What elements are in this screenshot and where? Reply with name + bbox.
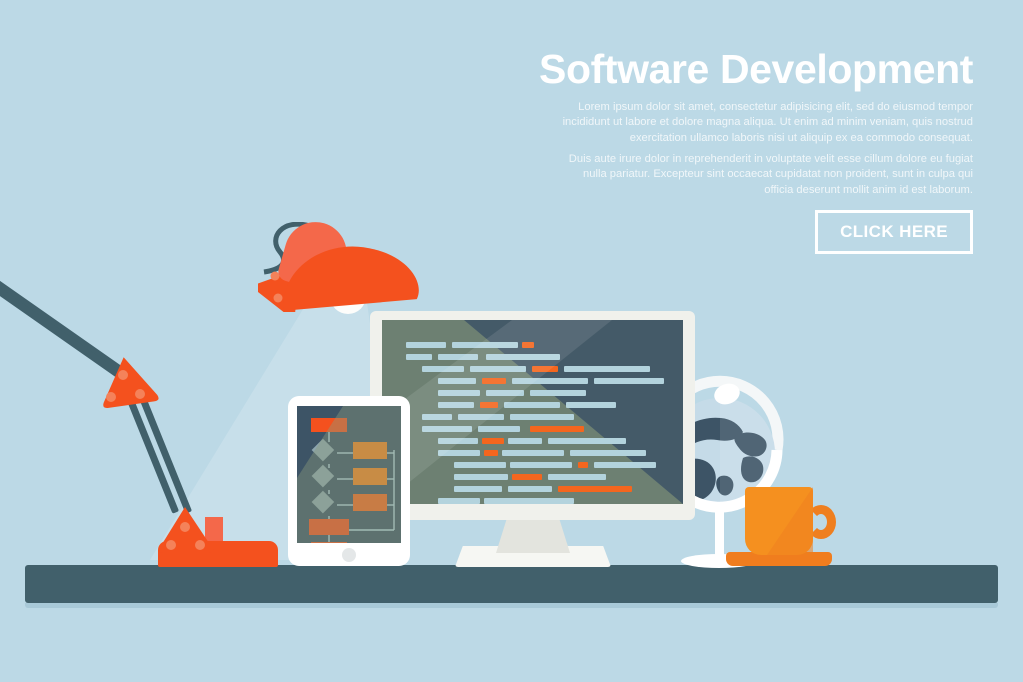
code-line-7-seg-1 <box>478 426 520 432</box>
tablet-screen[interactable] <box>297 406 401 543</box>
hero-paragraph-2: Duis aute irure dolor in reprehenderit i… <box>553 152 973 198</box>
code-line-3-seg-3 <box>594 378 664 384</box>
flowchart-diagram <box>297 406 401 543</box>
code-line-2-seg-3 <box>564 366 650 372</box>
hero-paragraph-1: Lorem ipsum dolor sit amet, consectetur … <box>553 100 973 146</box>
code-line-9-seg-1 <box>484 450 498 456</box>
code-line-5-seg-3 <box>566 402 616 408</box>
code-line-10-seg-2 <box>578 462 588 468</box>
code-line-8-seg-0 <box>438 438 478 444</box>
desk-surface <box>25 565 998 603</box>
cup-body <box>745 487 813 555</box>
code-line-12-seg-0 <box>454 486 502 492</box>
code-line-3-seg-2 <box>512 378 588 384</box>
illustration-canvas: Software Development Lorem ipsum dolor s… <box>0 0 1023 682</box>
code-line-9-seg-0 <box>438 450 480 456</box>
code-line-9-seg-2 <box>502 450 564 456</box>
code-line-6-seg-0 <box>422 414 452 420</box>
code-line-2-seg-2 <box>532 366 558 372</box>
code-line-1-seg-0 <box>406 354 432 360</box>
code-line-8-seg-2 <box>508 438 542 444</box>
code-line-5-seg-0 <box>438 402 474 408</box>
code-line-6-seg-1 <box>458 414 504 420</box>
code-line-0-seg-1 <box>452 342 518 348</box>
code-line-5-seg-2 <box>504 402 560 408</box>
click-here-button[interactable]: CLICK HERE <box>815 210 973 254</box>
code-line-0-seg-0 <box>406 342 446 348</box>
code-line-13-seg-1 <box>484 498 574 504</box>
tablet-home-button[interactable] <box>342 548 356 562</box>
flowchart-connectors <box>329 432 394 542</box>
code-line-11-seg-2 <box>548 474 606 480</box>
code-line-10-seg-0 <box>454 462 506 468</box>
monitor-screen[interactable] <box>382 320 683 504</box>
code-line-3-seg-0 <box>438 378 476 384</box>
lamp-joint-bottom <box>155 505 217 555</box>
code-line-11-seg-0 <box>454 474 508 480</box>
code-line-9-seg-3 <box>570 450 646 456</box>
code-line-10-seg-1 <box>510 462 572 468</box>
code-line-8-seg-3 <box>548 438 626 444</box>
code-line-2-seg-1 <box>470 366 526 372</box>
code-line-11-seg-1 <box>512 474 542 480</box>
code-line-12-seg-2 <box>558 486 632 492</box>
code-line-4-seg-2 <box>530 390 586 396</box>
code-line-2-seg-0 <box>422 366 464 372</box>
cup-highlight <box>745 487 813 555</box>
code-line-4-seg-1 <box>486 390 524 396</box>
code-line-6-seg-2 <box>510 414 574 420</box>
code-line-7-seg-2 <box>530 426 584 432</box>
code-line-4-seg-0 <box>438 390 480 396</box>
code-line-1-seg-1 <box>438 354 478 360</box>
code-line-0-seg-2 <box>522 342 534 348</box>
globe-post <box>715 508 724 558</box>
code-line-8-seg-1 <box>482 438 504 444</box>
code-line-5-seg-1 <box>480 402 498 408</box>
monitor-stand <box>496 520 570 553</box>
page-title: Software Development <box>539 48 973 91</box>
desk-shadow <box>25 603 998 608</box>
code-line-12-seg-1 <box>508 486 552 492</box>
lamp-joint-middle <box>97 355 159 409</box>
code-line-7-seg-0 <box>422 426 472 432</box>
code-line-1-seg-2 <box>486 354 560 360</box>
code-line-10-seg-3 <box>594 462 656 468</box>
code-line-3-seg-1 <box>482 378 506 384</box>
code-line-13-seg-0 <box>438 498 480 504</box>
